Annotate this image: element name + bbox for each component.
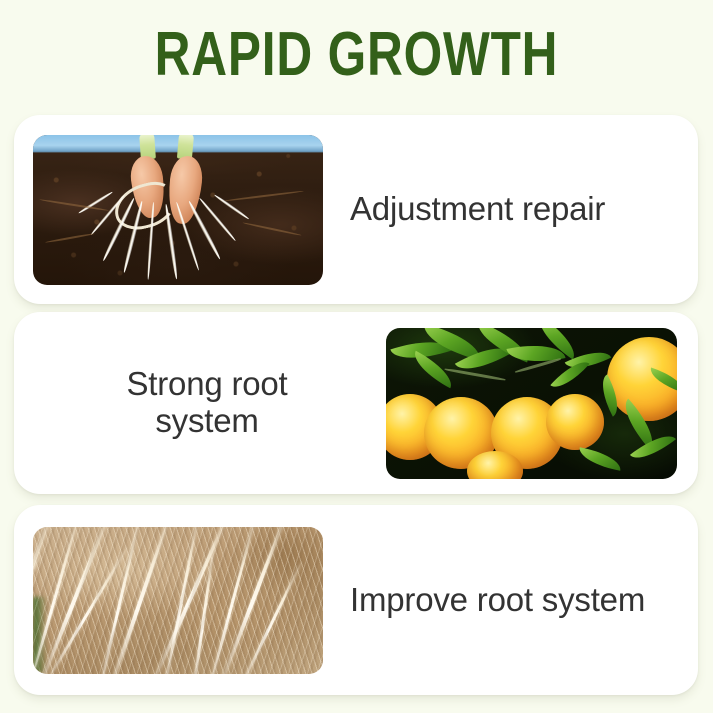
twig [444,367,506,381]
root-strand [95,527,143,674]
root-strand [108,527,173,674]
root-strand [161,527,201,674]
citrus-fruit-photo [386,328,677,479]
root-strand [205,527,259,674]
promo-page: RAPID GROWTH [0,0,713,713]
soil-fiber [45,232,95,243]
soil-fiber [242,221,301,235]
green-foliage-edge [33,597,47,673]
root-strand [190,541,216,674]
feature-card-label: Improve root system [323,582,698,619]
soil-roots-artwork [33,135,323,285]
fibrous-roots-photo [33,527,323,674]
root-strand [33,527,82,674]
root-strand [44,546,129,673]
soil-roots-photo [33,135,323,285]
root-strand [33,527,54,674]
citrus-fruit-icon [546,394,604,450]
feature-card-strong-root-system[interactable]: Strong root system [14,312,698,494]
root-strand [152,527,231,674]
root-strand [239,561,303,673]
citrus-fruit-artwork [386,328,677,479]
feature-card-label: Strong root system [14,366,386,440]
fibrous-roots-artwork [33,527,323,674]
root-strand [33,555,42,673]
feature-card-improve-root-system[interactable]: Improve root system [14,505,698,695]
soil-fiber [225,190,305,202]
root-strand [219,527,289,674]
feature-card-adjustment-repair[interactable]: Adjustment repair [14,115,698,304]
root-strand [37,527,112,674]
page-title: RAPID GROWTH [71,22,641,88]
leaf-icon [577,448,623,471]
feature-card-label: Adjustment repair [323,191,698,228]
